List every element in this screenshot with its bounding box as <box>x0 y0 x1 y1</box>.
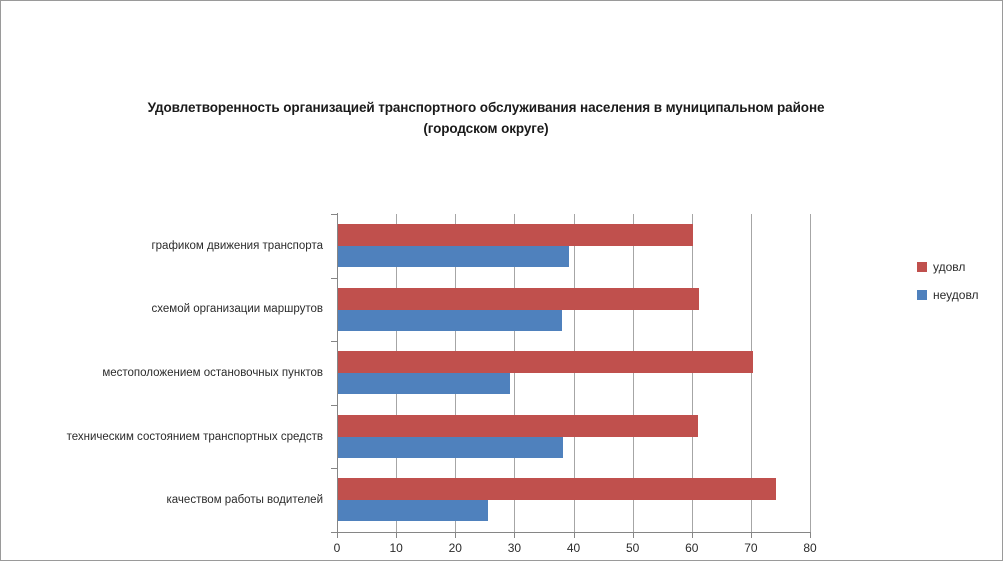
y-axis-line <box>337 213 338 533</box>
bar-neudovl[interactable] <box>337 437 563 458</box>
x-axis-tick-label: 80 <box>790 541 830 555</box>
x-axis-tick <box>810 532 811 538</box>
legend-swatch-icon <box>917 290 927 300</box>
y-axis-tick <box>331 214 337 215</box>
x-axis-tick-label: 60 <box>672 541 712 555</box>
bar-group <box>337 405 810 469</box>
x-axis-tick <box>633 532 634 538</box>
y-axis-tick <box>331 405 337 406</box>
category-label: местоположением остановочных пунктов <box>1 367 323 379</box>
bar-neudovl[interactable] <box>337 246 569 267</box>
x-axis-tick-label: 70 <box>731 541 771 555</box>
bar-udovl[interactable] <box>337 415 698 437</box>
bar-udovl[interactable] <box>337 224 693 246</box>
chart-title-line-2: (городском округе) <box>121 118 851 139</box>
x-axis-tick-label: 20 <box>435 541 475 555</box>
bar-neudovl[interactable] <box>337 310 562 331</box>
category-label: схемой организации маршрутов <box>1 303 323 315</box>
bar-group <box>337 341 810 405</box>
x-axis-tick <box>574 532 575 538</box>
category-label: графиком движения транспорта <box>1 240 323 252</box>
bar-neudovl[interactable] <box>337 500 488 521</box>
x-axis-tick-label: 50 <box>613 541 653 555</box>
bar-group <box>337 214 810 278</box>
y-axis-tick <box>331 341 337 342</box>
category-label: техническим состоянием транспортных сред… <box>1 431 323 443</box>
gridline-80 <box>810 214 811 532</box>
y-axis-category-labels: качеством работы водителейтехническим со… <box>1 214 331 532</box>
chart-container: Удовлетворенность организацией транспорт… <box>0 0 1003 561</box>
y-axis-tick <box>331 278 337 279</box>
x-axis-tick-label: 0 <box>317 541 357 555</box>
chart-title-line-1: Удовлетворенность организацией транспорт… <box>148 100 825 115</box>
x-axis-tick-label: 40 <box>554 541 594 555</box>
chart-legend: удовлнеудовл <box>917 253 1001 309</box>
legend-swatch-icon <box>917 262 927 272</box>
bar-udovl[interactable] <box>337 288 699 310</box>
bar-group <box>337 278 810 342</box>
y-axis-tick <box>331 468 337 469</box>
x-axis-tick <box>396 532 397 538</box>
x-axis-tick <box>514 532 515 538</box>
chart-title: Удовлетворенность организацией транспорт… <box>121 97 851 139</box>
legend-label: неудовл <box>933 288 979 302</box>
x-axis-tick <box>692 532 693 538</box>
x-axis-tick-label: 30 <box>494 541 534 555</box>
legend-item[interactable]: удовл <box>917 253 1001 281</box>
bar-neudovl[interactable] <box>337 373 510 394</box>
plot-area <box>337 214 810 532</box>
legend-item[interactable]: неудовл <box>917 281 1001 309</box>
x-axis-tick-label: 10 <box>376 541 416 555</box>
legend-label: удовл <box>933 260 965 274</box>
x-axis-tick <box>455 532 456 538</box>
category-label: качеством работы водителей <box>1 494 323 506</box>
bar-udovl[interactable] <box>337 351 753 373</box>
bar-group <box>337 468 810 532</box>
x-axis-tick <box>751 532 752 538</box>
bar-udovl[interactable] <box>337 478 776 500</box>
x-axis-tick <box>337 532 338 538</box>
